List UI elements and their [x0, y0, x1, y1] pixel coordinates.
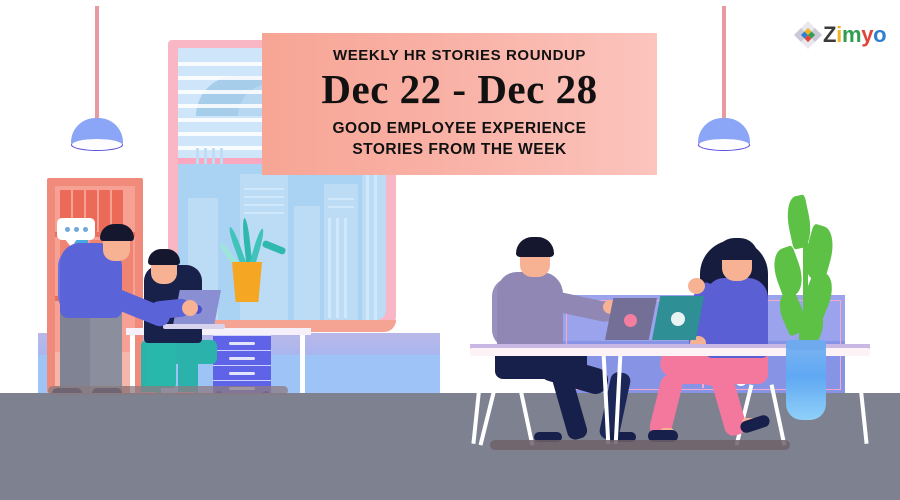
- building-stripe: [366, 174, 369, 320]
- drawer-handle[interactable]: [229, 357, 255, 360]
- chat-dot-icon: [65, 227, 70, 232]
- drawer-handle[interactable]: [229, 372, 255, 375]
- floor-shadow: [490, 440, 790, 450]
- man-right-hair: [516, 237, 554, 257]
- standing-man-hair: [100, 224, 134, 241]
- laptop-logo-dot: [624, 314, 637, 327]
- desk-left-leg: [300, 335, 305, 397]
- standing-man-hand: [182, 300, 198, 316]
- pendant-lamp-cord: [722, 6, 726, 122]
- banner-date-range: Dec 22 - Dec 28: [321, 69, 597, 110]
- zimyo-wordmark: Zimyo: [823, 24, 886, 46]
- headline-banner-text: WEEKLY HR STORIES ROUNDUP Dec 22 - Dec 2…: [262, 33, 657, 175]
- pendant-lamp-glow: [72, 139, 122, 150]
- zimyo-diamond-icon: [794, 21, 822, 49]
- laptop-logo-dot: [671, 312, 685, 326]
- plant-pot-rim: [786, 340, 826, 350]
- laptop-base: [163, 324, 225, 329]
- banner-subtitle-line-1: GOOD EMPLOYEE EXPERIENCE: [332, 119, 586, 140]
- banner-subtitle: GOOD EMPLOYEE EXPERIENCE STORIES FROM TH…: [332, 119, 586, 161]
- logo-letter-y: y: [861, 22, 873, 47]
- building-stripe: [344, 218, 347, 318]
- zimyo-logo[interactable]: Zimyo: [798, 22, 890, 48]
- seated-man-hair: [148, 249, 180, 265]
- banner-subtitle-line-2: STORIES FROM THE WEEK: [332, 140, 586, 161]
- building-window-line: [328, 198, 354, 200]
- logo-letter-o: o: [873, 22, 886, 47]
- building-stripe: [336, 218, 339, 318]
- pendant-lamp-glow: [699, 139, 749, 150]
- chat-dot-icon: [74, 227, 79, 232]
- plant-pot: [232, 262, 262, 302]
- building: [294, 206, 320, 320]
- man-right-torso: [497, 272, 563, 354]
- drawer-handle[interactable]: [229, 342, 255, 345]
- chat-dot-icon: [83, 227, 88, 232]
- banner-kicker: WEEKLY HR STORIES ROUNDUP: [333, 47, 586, 64]
- plant-pot: [786, 340, 826, 420]
- illustration-canvas: WEEKLY HR STORIES ROUNDUP Dec 22 - Dec 2…: [0, 0, 900, 500]
- building-window-line: [328, 206, 354, 208]
- building-window-line: [244, 204, 284, 206]
- building-window-line: [244, 212, 284, 214]
- building-stripe: [328, 218, 331, 318]
- seated-man-chair: [146, 340, 176, 388]
- building-window-line: [244, 196, 284, 198]
- building-stripe: [374, 174, 377, 320]
- floor-shadow: [48, 386, 288, 395]
- building-window-line: [244, 188, 284, 190]
- pendant-lamp-cord: [95, 6, 99, 122]
- logo-letter-z: Z: [823, 22, 836, 47]
- woman-fist: [688, 278, 705, 294]
- logo-letter-m: m: [842, 22, 861, 47]
